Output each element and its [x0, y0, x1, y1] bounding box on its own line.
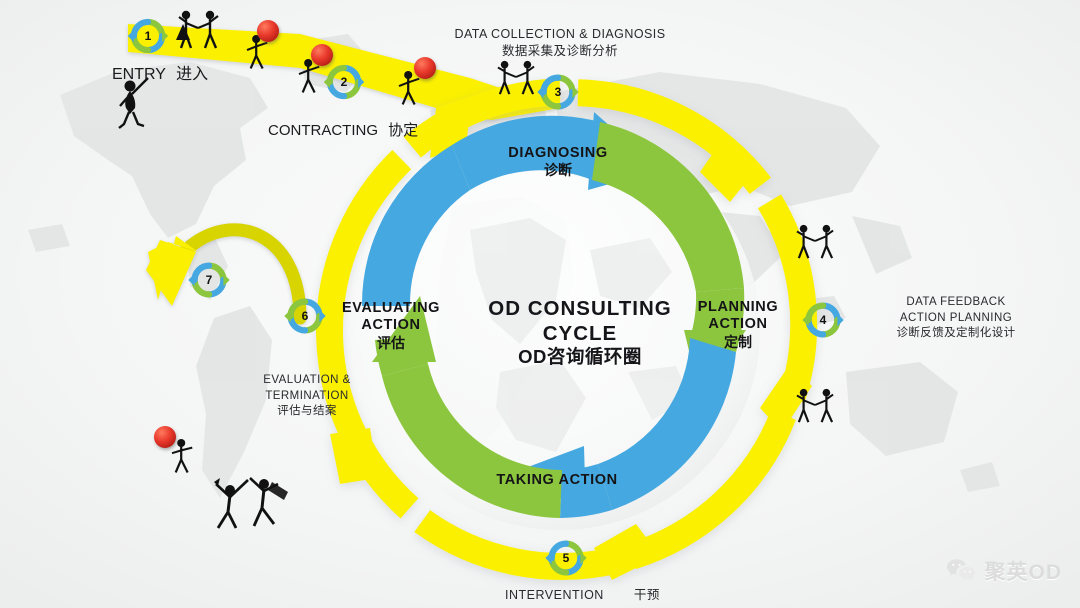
quadrant-diagnosing-cn: 诊断 [488, 162, 628, 179]
quadrant-planning-en-1: PLANNING [678, 299, 798, 316]
step-eval-term-en-1: EVALUATION & [230, 373, 384, 389]
step-data-feedback-en-2: ACTION PLANNING [856, 311, 1056, 327]
step-number-4: 4 [813, 313, 833, 327]
wechat-icon [946, 558, 976, 584]
quadrant-label-evaluating: EVALUATING ACTION 评估 [332, 300, 450, 352]
balloon-3 [414, 57, 436, 79]
quadrant-evaluating-en-1: EVALUATING [332, 300, 450, 317]
step-label-contracting: CONTRACTING 协定 [268, 119, 418, 140]
quadrant-taking-en: TAKING ACTION [492, 472, 622, 489]
step-intervention-en: INTERVENTION [505, 588, 604, 602]
watermark: 聚英OD [946, 556, 1063, 586]
quadrant-planning-en-2: ACTION [678, 316, 798, 333]
balloon-1 [257, 20, 279, 42]
balloon-2 [311, 44, 333, 66]
watermark-text: 聚英OD [985, 556, 1063, 586]
center-title-cn: OD咨询循环圈 [455, 346, 705, 369]
quadrant-planning-cn: 定制 [678, 334, 798, 351]
step-eval-term-cn: 评估与结案 [230, 404, 384, 420]
center-title-en: OD CONSULTING CYCLE [455, 296, 705, 346]
step-number-2: 2 [334, 75, 354, 89]
step-contracting-cn: 协定 [388, 122, 418, 139]
od-consulting-cycle-diagram: OD CONSULTING CYCLE OD咨询循环圈 DIAGNOSING 诊… [0, 0, 1080, 608]
center-title-block: OD CONSULTING CYCLE OD咨询循环圈 [455, 296, 705, 369]
quadrant-diagnosing-en: DIAGNOSING [488, 145, 628, 162]
step-intervention-cn: 干预 [634, 588, 660, 602]
step-data-feedback-en-1: DATA FEEDBACK [856, 295, 1056, 311]
step-number-1: 1 [138, 29, 158, 43]
step-number-3: 3 [548, 85, 568, 99]
quadrant-evaluating-cn: 评估 [332, 335, 450, 352]
step-data-feedback-cn: 诊断反馈及定制化设计 [856, 326, 1056, 342]
step-data-collection-cn: 数据采集及诊断分析 [440, 43, 680, 60]
step-label-entry: ENTRY 进入 [112, 60, 208, 84]
quadrant-label-planning: PLANNING ACTION 定制 [678, 299, 798, 351]
balloon-4 [154, 426, 176, 448]
quadrant-evaluating-en-2: ACTION [332, 317, 450, 334]
step-number-7: 7 [199, 273, 219, 287]
step-number-6: 6 [295, 309, 315, 323]
quadrant-label-diagnosing: DIAGNOSING 诊断 [488, 145, 628, 179]
step-label-evaluation-termination: EVALUATION & TERMINATION 评估与结案 [230, 373, 384, 420]
step-number-5: 5 [556, 551, 576, 565]
step-label-data-collection: DATA COLLECTION & DIAGNOSIS 数据采集及诊断分析 [440, 26, 680, 60]
step-data-collection-en: DATA COLLECTION & DIAGNOSIS [440, 26, 680, 43]
step-label-data-feedback: DATA FEEDBACK ACTION PLANNING 诊断反馈及定制化设计 [856, 295, 1056, 342]
step-entry-en: ENTRY [112, 66, 166, 83]
step-eval-term-en-2: TERMINATION [230, 389, 384, 405]
step-entry-cn: 进入 [176, 66, 208, 83]
step-contracting-en: CONTRACTING [268, 122, 378, 139]
step-label-intervention: INTERVENTION 干预 [505, 584, 660, 603]
quadrant-label-taking-action: TAKING ACTION [492, 472, 622, 489]
